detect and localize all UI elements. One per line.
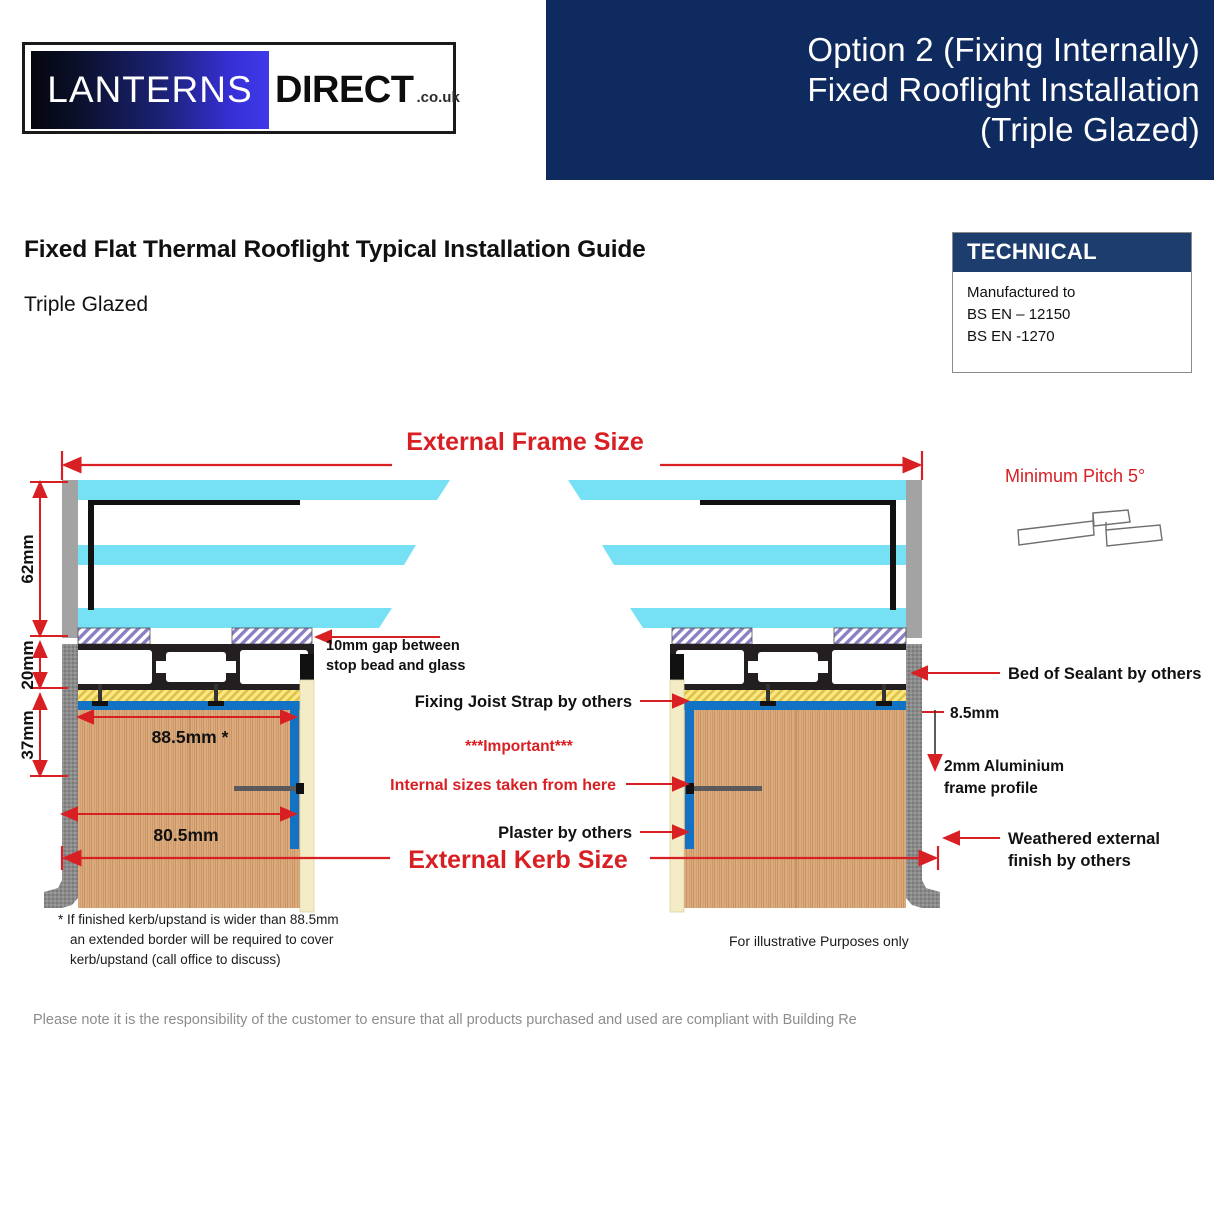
sealant-hatch-left-outer [232,628,312,644]
dimension-8-5mm: 8.5mm [950,705,999,722]
header-banner: Option 2 (Fixing Internally) Fixed Roofl… [546,0,1214,180]
plaster-top-right [670,701,906,710]
callout-10mm-gap-line-2: stop bead and glass [326,658,465,674]
weathered-finish-right [906,644,940,908]
technical-line-2: BS EN – 12150 [967,304,1191,326]
minimum-pitch-label: Minimum Pitch 5° [1005,466,1145,486]
minimum-pitch-group: Minimum Pitch 5° [1005,466,1162,546]
page-subtitle: Triple Glazed [24,293,148,317]
logo-word-lanterns: LANTERNS [47,69,252,111]
callout-bed-of-sealant: Bed of Sealant by others [912,665,1201,683]
glass-pane-bottom-left [78,608,392,628]
dimension-37mm: 37mm [18,710,37,759]
callout-fixing-joist-strap-label: Fixing Joist Strap by others [415,693,632,711]
callout-weathered-finish: Weathered external finish by others [944,830,1160,870]
callout-important-label: ***Important*** [465,738,574,755]
dimension-80-5mm: 80.5mm [153,825,218,845]
external-frame-size-dimension: External Frame Size [62,428,922,480]
bed-of-sealant-right [670,690,906,701]
timber-kerb-right [684,710,906,908]
logo-tld: .co.uk [416,89,459,106]
callout-bed-of-sealant-label: Bed of Sealant by others [1008,665,1201,683]
plaster-vertical-right [685,701,694,849]
callout-weathered-line-1: Weathered external [1008,830,1160,848]
plaster-vertical-left [290,701,299,849]
dimension-20mm: 20mm [18,640,37,689]
header-title-line-2: Fixed Rooflight Installation [807,70,1200,110]
plaster-top-left [78,701,314,710]
spacer-bar-vert-right [890,502,896,610]
callout-aluminium-line-1: 2mm Aluminium [944,758,1064,775]
installation-cross-section-diagram: External Frame Size [0,418,1214,978]
glass-pane-top-left [78,480,450,500]
sealant-hatch-right-outer [672,628,752,644]
technical-heading: TECHNICAL [953,233,1191,272]
spacer-bar-top-left [88,500,300,505]
company-logo: LANTERNS DIRECT .co.uk [22,42,456,134]
footnote-line-1: * If finished kerb/upstand is wider than… [58,910,339,930]
plasterboard-right [670,680,684,912]
dimension-88-5mm: 88.5mm * [152,727,229,747]
callout-10mm-gap-line-1: 10mm gap between [326,638,460,654]
callout-plaster-label: Plaster by others [498,824,632,842]
right-frame-outer-grey [906,480,922,638]
technical-line-1: Manufactured to [967,282,1191,304]
technical-box: TECHNICAL Manufactured to BS EN – 12150 … [952,232,1192,373]
illustrative-purposes-note: For illustrative Purposes only [729,933,909,949]
aluminium-profile-right [670,644,922,690]
logo-right-group: DIRECT .co.uk [275,51,460,129]
plasterboard-left [300,680,314,912]
spacer-bar-vert-left [88,502,94,610]
footnote-line-3: kerb/upstand (call office to discuss) [58,950,339,970]
logo-gradient-panel: LANTERNS [31,51,269,129]
callout-important: ***Important*** Internal sizes taken fro… [390,738,688,794]
glass-pane-mid-left [78,545,416,565]
external-kerb-size-label: External Kerb Size [408,846,628,874]
dimension-62mm: 62mm [18,534,37,583]
external-frame-size-label: External Frame Size [406,428,644,456]
disclaimer-text: Please note it is the responsibility of … [33,1012,857,1028]
callout-fixing-joist-strap: Fixing Joist Strap by others [415,693,688,711]
callout-aluminium-line-2: frame profile [944,780,1038,797]
bed-of-sealant-left [78,690,314,701]
logo-word-direct: DIRECT [275,69,413,112]
callout-internal-sizes-label: Internal sizes taken from here [390,777,616,794]
header-title-line-3: (Triple Glazed) [980,110,1200,150]
vertical-dimension-group: 62mm 20mm 37mm [18,482,68,776]
header-title-line-1: Option 2 (Fixing Internally) [807,30,1200,70]
left-cross-section [44,480,450,912]
footnote-line-2: an extended border will be required to c… [58,930,339,950]
glass-pane-mid-right [602,545,906,565]
spacer-bar-top-right [700,500,896,505]
sealant-hatch-right-inner [834,628,906,644]
fixing-joist-strap-right [694,786,762,791]
callout-10mm-gap: 10mm gap between stop bead and glass [316,637,465,674]
callout-plaster: Plaster by others [498,824,688,842]
callout-weathered-line-2: finish by others [1008,852,1131,870]
page-title: Fixed Flat Thermal Rooflight Typical Ins… [24,236,646,264]
glass-pane-top-right [568,480,906,500]
sealant-hatch-left-inner [78,628,150,644]
technical-line-3: BS EN -1270 [967,326,1191,348]
glass-pane-bottom-right [630,608,906,628]
aluminium-profile-left [62,644,314,690]
callout-aluminium-profile: 2mm Aluminium frame profile [935,710,1064,797]
fixing-joist-strap-left [234,786,302,791]
left-frame-outer-grey [62,480,78,638]
pitch-diagram-icon [1018,510,1162,546]
technical-body: Manufactured to BS EN – 12150 BS EN -127… [953,272,1191,348]
kerb-width-footnote: * If finished kerb/upstand is wider than… [58,910,339,970]
callout-8-5mm: 8.5mm [922,705,999,722]
